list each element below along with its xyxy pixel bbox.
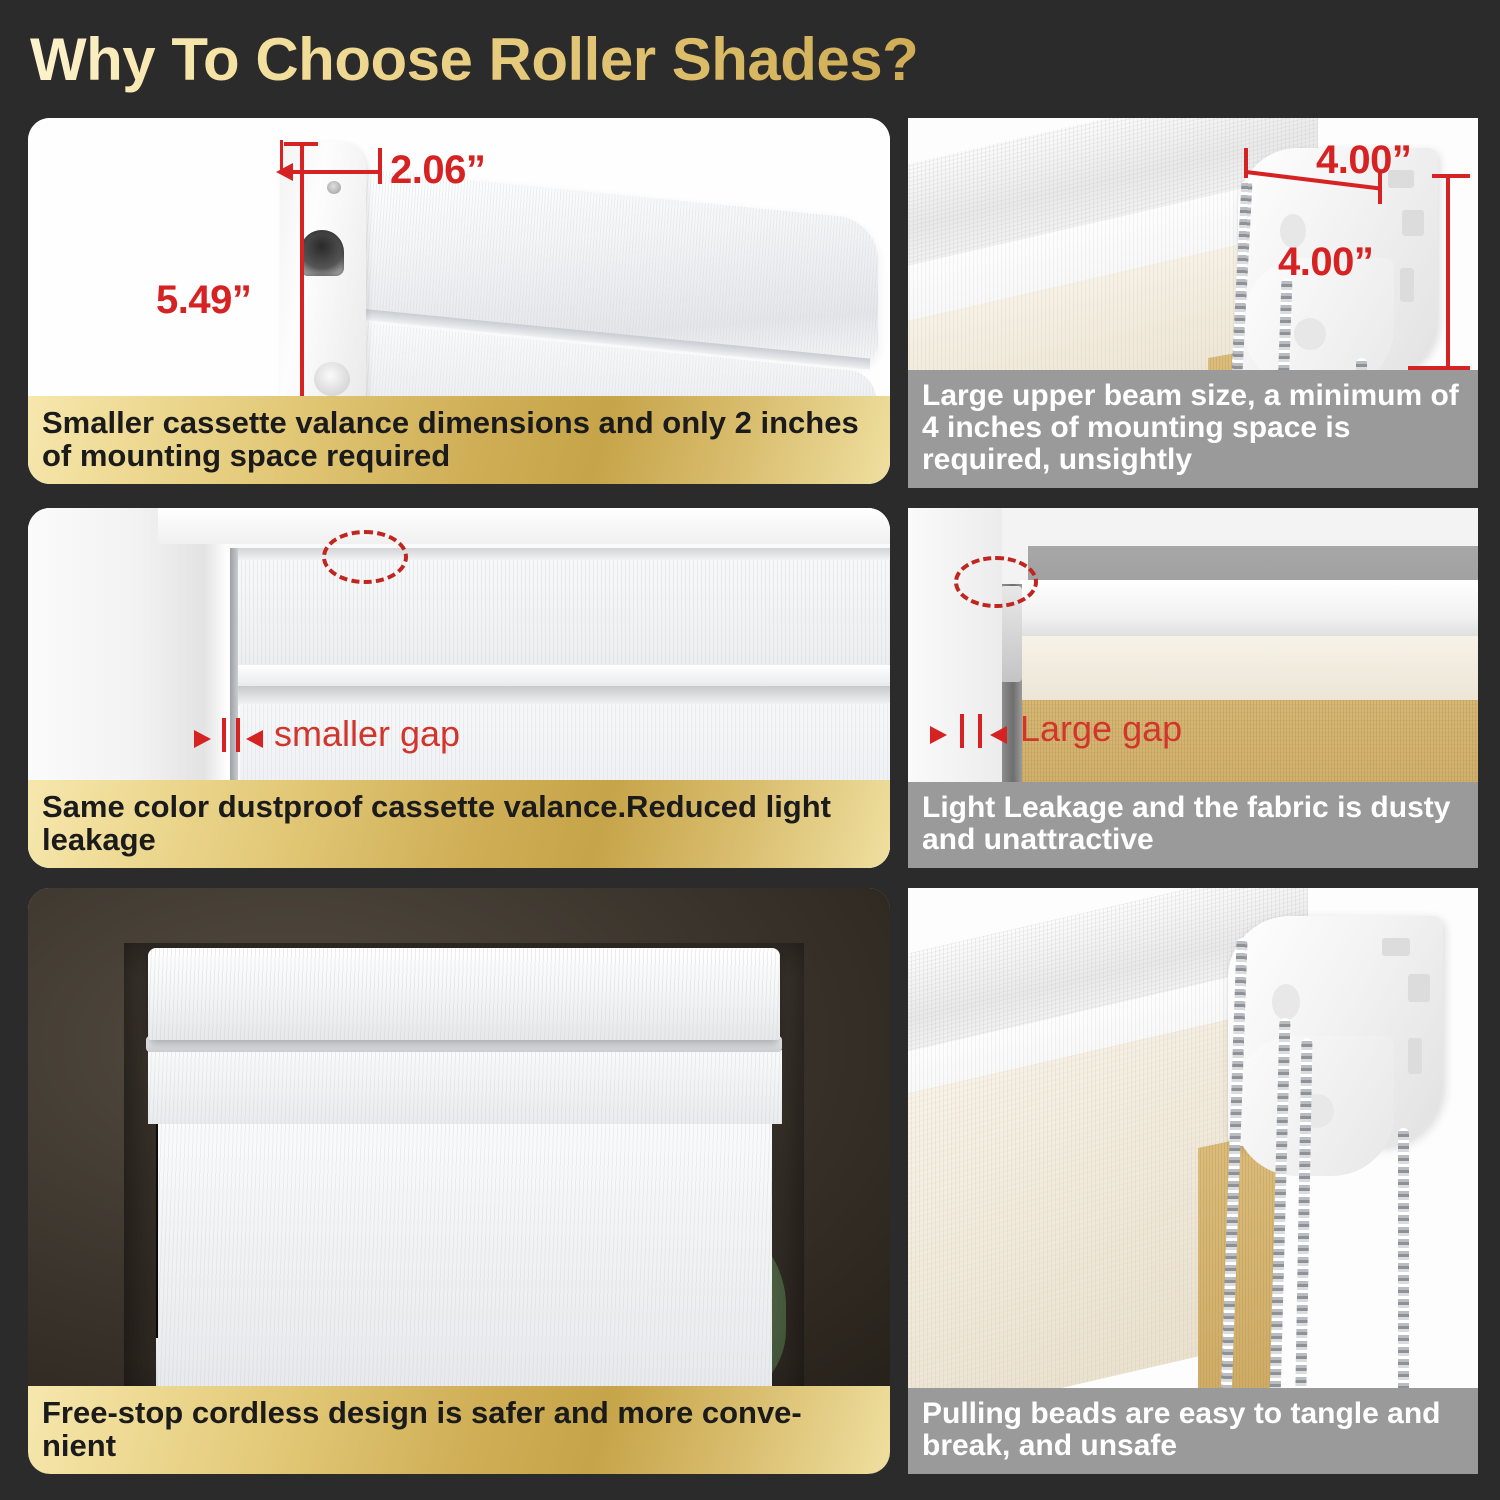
panel-mid-right: Large gap Light Leakage and the fabric i… [908,508,1478,868]
gap-label-large: Large gap [1020,708,1182,750]
dim-tick-400-v-top [1432,174,1470,178]
gap-tick-a [960,714,964,748]
dim-tick-549-top [284,142,318,146]
dim-arrow-206-left [276,163,293,181]
panel-bottom-right: Pulling beads are easy to tangle and bre… [908,888,1478,1474]
caption-mid-right: Light Leakage and the fabric is dusty an… [908,782,1478,868]
caption-top-right: Large upper beam size, a minimum of 4 in… [908,370,1478,488]
gap-arrow-left [246,730,263,748]
highlight-circle-icon [322,530,408,584]
caption-bottom-right: Pulling beads are easy to tangle and bre… [908,1388,1478,1474]
dim-label-549: 5.49” [156,278,251,323]
gap-tick-b [978,714,982,748]
dim-label-400-height: 4.00” [1278,240,1373,285]
gap-tick-a [222,718,226,752]
panel-bottom-right-photo [908,888,1478,1474]
caption-bottom-left: Free-stop cordless design is safer and m… [28,1386,890,1474]
panel-top-left: 2.06” 5.49” Smaller cassette valance dim… [28,118,890,484]
gap-label-smaller: smaller gap [274,713,460,755]
gap-arrow-right [194,730,211,748]
dim-label-400-width: 4.00” [1316,138,1411,183]
infographic-board: Why To Choose Roller Shades? 2.06” 5.49” [0,0,1500,1500]
caption-mid-left: Same color dustproof cassette valance.Re… [28,780,890,868]
dim-line-206 [280,170,380,174]
gap-tick-b [236,718,240,752]
highlight-circle-icon [954,556,1038,608]
caption-bottom-left-line1: Free-stop cordless design is safer and m… [42,1395,802,1430]
panel-bottom-left: Free-stop cordless design is safer and m… [28,888,890,1474]
gap-arrow-right [930,726,947,744]
caption-top-left: Smaller cassette valance dimensions and … [28,396,890,484]
page-title: Why To Choose Roller Shades? [30,22,1030,97]
dim-tick-206-right [378,148,382,184]
panel-mid-left: smaller gap Same color dustproof cassett… [28,508,890,868]
dim-line-400-v [1446,174,1450,370]
gap-arrow-left [990,726,1007,744]
caption-bottom-left-line2: nient [42,1428,116,1463]
dim-tick-400-h-left [1244,148,1248,178]
dim-label-206: 2.06” [390,148,485,193]
panel-top-right: 4.00” 4.00” Large upper beam size, a min… [908,118,1478,488]
